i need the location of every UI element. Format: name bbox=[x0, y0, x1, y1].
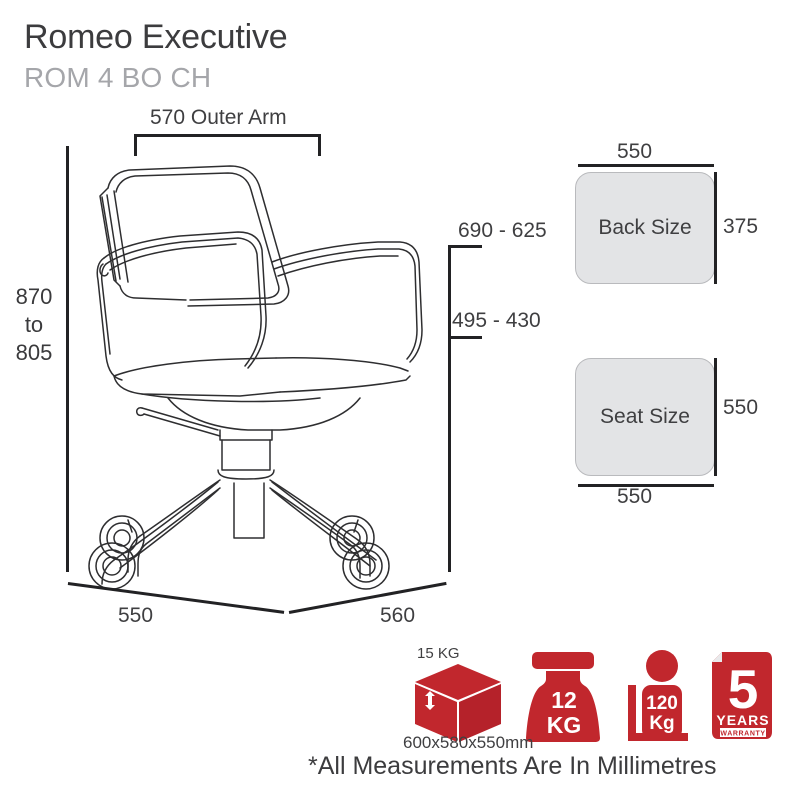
weight-scale-icon: 12 KG bbox=[524, 652, 602, 744]
person-load-value-line-1: 120 bbox=[646, 693, 678, 714]
icon-row: 12 KG 120 Kg 5 YEARS WARRANTY bbox=[0, 640, 800, 750]
person-load-value-line-2: Kg bbox=[649, 713, 674, 734]
overall-height-line-2: to bbox=[8, 311, 60, 339]
depth-left-label: 550 bbox=[118, 604, 153, 628]
back-size-box: Back Size bbox=[575, 172, 715, 284]
warranty-badge-number: 5 bbox=[728, 658, 759, 720]
back-size-height-label: 375 bbox=[723, 215, 758, 239]
seat-size-width-label: 550 bbox=[617, 485, 652, 509]
measurements-footnote: *All Measurements Are In Millimetres bbox=[308, 752, 716, 781]
seat-size-box: Seat Size bbox=[575, 358, 715, 476]
carton-dimensions-label: 600x580x550mm bbox=[403, 733, 533, 753]
specification-sheet: Romeo Executive ROM 4 BO CH bbox=[0, 0, 800, 800]
product-code: ROM 4 BO CH bbox=[24, 62, 211, 94]
centre-leader-rule bbox=[448, 245, 451, 572]
outer-arm-dimension-label: 570 Outer Arm bbox=[150, 106, 287, 130]
back-size-height-rule bbox=[714, 172, 717, 284]
overall-height-label: 870 to 805 bbox=[8, 283, 60, 367]
warranty-badge-years: YEARS bbox=[716, 712, 769, 728]
carton-box-icon bbox=[413, 662, 503, 744]
page-title: Romeo Executive bbox=[24, 18, 287, 57]
back-size-width-label: 550 bbox=[617, 140, 652, 164]
chair-line-drawing bbox=[70, 140, 430, 590]
depth-right-label: 560 bbox=[380, 604, 415, 628]
seat-size-height-label: 550 bbox=[723, 396, 758, 420]
seat-size-box-label: Seat Size bbox=[600, 405, 690, 429]
back-size-width-rule bbox=[578, 164, 714, 167]
outer-arm-dimension-bracket bbox=[134, 134, 321, 156]
seat-height-tick bbox=[448, 336, 482, 339]
weight-scale-value-line-2: KG bbox=[547, 712, 582, 738]
back-height-range-label: 690 - 625 bbox=[458, 219, 547, 243]
weight-scale-value-line-1: 12 bbox=[551, 687, 577, 713]
person-load-icon: 120 Kg bbox=[622, 649, 694, 744]
carton-weight-label: 15 KG bbox=[417, 645, 460, 662]
seat-height-range-label: 495 - 430 bbox=[452, 309, 541, 333]
seat-size-height-rule bbox=[714, 358, 717, 476]
warranty-badge-warranty: WARRANTY bbox=[720, 731, 765, 738]
overall-height-rule bbox=[66, 146, 69, 572]
warranty-badge-icon: 5 YEARS WARRANTY bbox=[706, 646, 778, 746]
back-height-tick bbox=[448, 245, 482, 248]
overall-height-line-3: 805 bbox=[8, 339, 60, 367]
back-size-box-label: Back Size bbox=[598, 216, 691, 240]
overall-height-line-1: 870 bbox=[8, 283, 60, 311]
